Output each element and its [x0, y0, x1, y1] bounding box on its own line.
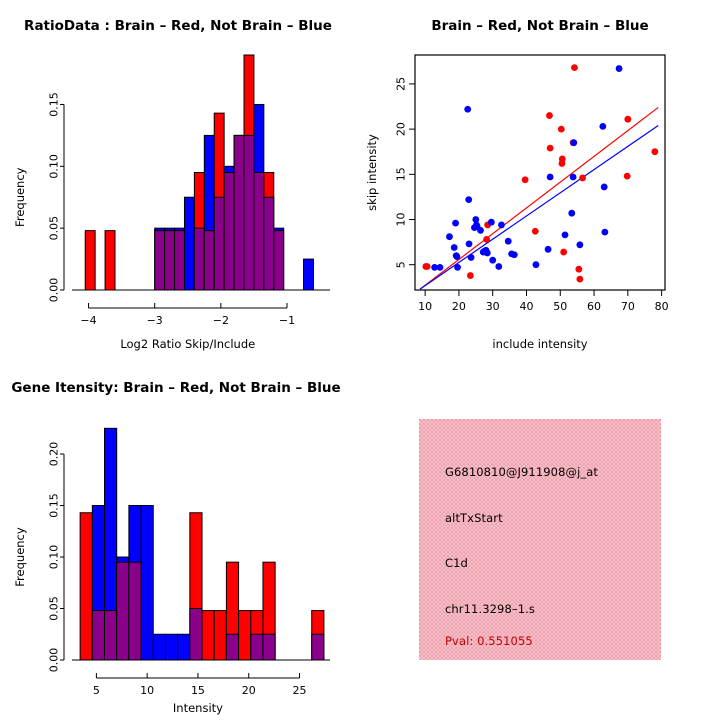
hist-bar-not-brain: [153, 634, 165, 660]
hist-bar-brain: [80, 513, 92, 660]
scatter-point: [547, 145, 554, 152]
plot-frame: [415, 55, 665, 290]
panel-gene-histogram: Gene Itensity: Brain – Red, Not Brain – …: [0, 360, 360, 720]
y-tick-label: 0.15: [48, 92, 61, 117]
hist-bar-overlap: [263, 634, 275, 660]
scatter-point: [570, 139, 577, 146]
scatter-point: [488, 219, 495, 226]
y-tick-label: 5: [395, 261, 408, 268]
scatter-point: [451, 244, 458, 251]
x-tick-label: −1: [279, 314, 295, 327]
y-axis-label: Frequency: [13, 167, 27, 227]
y-tick-label: 0.00: [48, 278, 61, 303]
scatter-point: [498, 222, 505, 229]
gene-info-panel: G6810810@J911908@j_at altTxStart C1d chr…: [419, 419, 661, 660]
scatter-point: [424, 263, 431, 270]
scatter-point: [576, 241, 583, 248]
hist-bar-not-brain: [178, 634, 190, 660]
hist-bar-overlap: [224, 173, 234, 291]
x-axis-label: Log2 Ratio Skip/Include: [120, 337, 255, 351]
scatter-point: [546, 112, 553, 119]
scatter-plot-svg: Brain – Red, Not Brain – Blue51015202510…: [360, 0, 720, 360]
scatter-point: [466, 241, 473, 248]
info-event-type: altTxStart: [445, 511, 503, 525]
bars-group: [85, 55, 313, 290]
scatter-point: [477, 227, 484, 234]
hist-bar-overlap: [117, 562, 129, 660]
hist-bar-overlap: [274, 231, 284, 290]
x-axis-label: Intensity: [173, 701, 223, 715]
hist-bar-overlap: [214, 197, 224, 290]
hist-bar-overlap: [234, 135, 244, 290]
y-tick-label: 0.00: [48, 648, 61, 673]
y-tick-label: 15: [395, 167, 408, 181]
scatter-point: [624, 116, 631, 123]
scatter-point: [495, 263, 502, 270]
x-tick-label: 20: [452, 300, 466, 313]
scatter-point: [446, 233, 453, 240]
hist-bar-overlap: [129, 562, 141, 660]
scatter-point: [651, 148, 658, 155]
scatter-point: [465, 196, 472, 203]
hist-bar-overlap: [244, 135, 254, 290]
scatter-point: [559, 156, 566, 163]
x-tick-label: 30: [486, 300, 500, 313]
hist-bar-overlap: [226, 634, 238, 660]
scatter-point: [560, 249, 567, 256]
scatter-point: [562, 231, 569, 238]
panel-ratio-histogram: RatioData : Brain – Red, Not Brain – Blu…: [0, 0, 360, 360]
scatter-point: [454, 264, 461, 271]
hist-bar-brain: [214, 611, 226, 660]
x-tick-label: 80: [655, 300, 669, 313]
y-axis-label: Frequency: [13, 527, 27, 587]
x-tick-label: −2: [213, 314, 229, 327]
scatter-point: [601, 229, 608, 236]
scatter-point: [505, 238, 512, 245]
scatter-point: [576, 276, 583, 283]
scatter-point: [468, 254, 475, 261]
y-axis-label: skip intensity: [365, 134, 379, 211]
scatter-point: [437, 264, 444, 271]
x-tick-label: 40: [519, 300, 533, 313]
scatter-point: [545, 246, 552, 253]
scatter-point: [511, 251, 518, 258]
scatter-point: [532, 228, 539, 235]
hist-bar-brain: [85, 231, 95, 290]
hist-bar-overlap: [190, 609, 202, 660]
scatter-point: [601, 184, 608, 191]
hist-bar-overlap: [264, 197, 274, 290]
scatter-point: [484, 250, 491, 257]
scatter-point: [575, 266, 582, 273]
scatter-series: [422, 64, 658, 282]
hist-bar-not-brain: [184, 197, 194, 290]
panel-scatter: Brain – Red, Not Brain – Blue51015202510…: [360, 0, 720, 360]
scatter-point: [568, 210, 575, 217]
x-tick-label: 10: [418, 300, 432, 313]
hist-bar-overlap: [175, 231, 185, 290]
hist-bar-overlap: [155, 231, 165, 290]
x-tick-label: 5: [93, 684, 100, 697]
scatter-point: [452, 220, 459, 227]
scatter-point: [467, 272, 474, 279]
y-tick-label: 0.05: [48, 596, 61, 621]
hist-bar-overlap: [254, 173, 264, 291]
scatter-point: [599, 123, 606, 130]
info-gene-symbol: C1d: [445, 556, 468, 570]
hist-bar-not-brain: [304, 259, 314, 290]
hist-bar-brain: [105, 231, 115, 290]
regression-line: [420, 107, 658, 289]
scatter-point: [547, 174, 554, 181]
scatter-point: [533, 261, 540, 268]
hist-bar-brain: [202, 611, 214, 660]
x-tick-label: 20: [242, 684, 256, 697]
hist-bar-not-brain: [165, 634, 177, 660]
hist-bar-overlap: [105, 611, 117, 660]
panel-title: Brain – Red, Not Brain – Blue: [431, 18, 648, 34]
hist-bar-overlap: [194, 228, 204, 290]
x-tick-label: 50: [553, 300, 567, 313]
scatter-point: [522, 176, 529, 183]
scatter-point: [558, 126, 565, 133]
y-tick-label: 20: [395, 122, 408, 136]
hist-bar-overlap: [204, 231, 214, 290]
y-tick-label: 0.15: [48, 493, 61, 518]
scatter-point: [624, 173, 631, 180]
scatter-point: [489, 257, 496, 264]
y-tick-label: 0.05: [48, 216, 61, 241]
hist-bar-overlap: [251, 634, 263, 660]
x-tick-label: −3: [147, 314, 163, 327]
x-tick-label: 60: [587, 300, 601, 313]
scatter-point: [616, 65, 623, 72]
x-tick-label: 10: [140, 684, 154, 697]
scatter-point: [579, 175, 586, 182]
x-tick-label: 15: [191, 684, 205, 697]
figure-canvas: RatioData : Brain – Red, Not Brain – Blu…: [0, 0, 720, 720]
plot-area: [420, 64, 658, 289]
x-tick-label: 25: [293, 684, 307, 697]
info-probe-id: G6810810@J911908@j_at: [445, 465, 598, 479]
x-tick-label: −4: [80, 314, 96, 327]
x-axis-label: include intensity: [492, 337, 587, 351]
y-tick-label: 0.10: [48, 154, 61, 179]
scatter-point: [464, 106, 471, 113]
hist-bar-overlap: [165, 231, 175, 290]
scatter-series: [431, 65, 622, 271]
hist-bar-brain: [239, 611, 251, 660]
y-tick-label: 0.10: [48, 545, 61, 570]
y-tick-label: 0.20: [48, 442, 61, 467]
scatter-point: [453, 253, 460, 260]
hist-bar-overlap: [312, 634, 324, 660]
svg-ratio: RatioData : Brain – Red, Not Brain – Blu…: [0, 0, 360, 360]
panel-title: Gene Itensity: Brain – Red, Not Brain – …: [11, 380, 340, 396]
scatter-point: [571, 64, 578, 71]
panel-title: RatioData : Brain – Red, Not Brain – Blu…: [24, 18, 332, 34]
scatter-point: [570, 174, 577, 181]
info-locus: chr11.3298–1.s: [445, 602, 535, 616]
y-tick-label: 25: [395, 77, 408, 91]
bars-group: [80, 428, 324, 660]
y-tick-label: 10: [395, 213, 408, 227]
x-tick-label: 70: [621, 300, 635, 313]
hist-bar-not-brain: [141, 506, 153, 660]
info-pvalue: Pval: 0.551055: [445, 634, 533, 648]
hist-bar-overlap: [92, 611, 104, 660]
scatter-point: [483, 236, 490, 243]
svg-gene: Gene Itensity: Brain – Red, Not Brain – …: [0, 360, 360, 720]
